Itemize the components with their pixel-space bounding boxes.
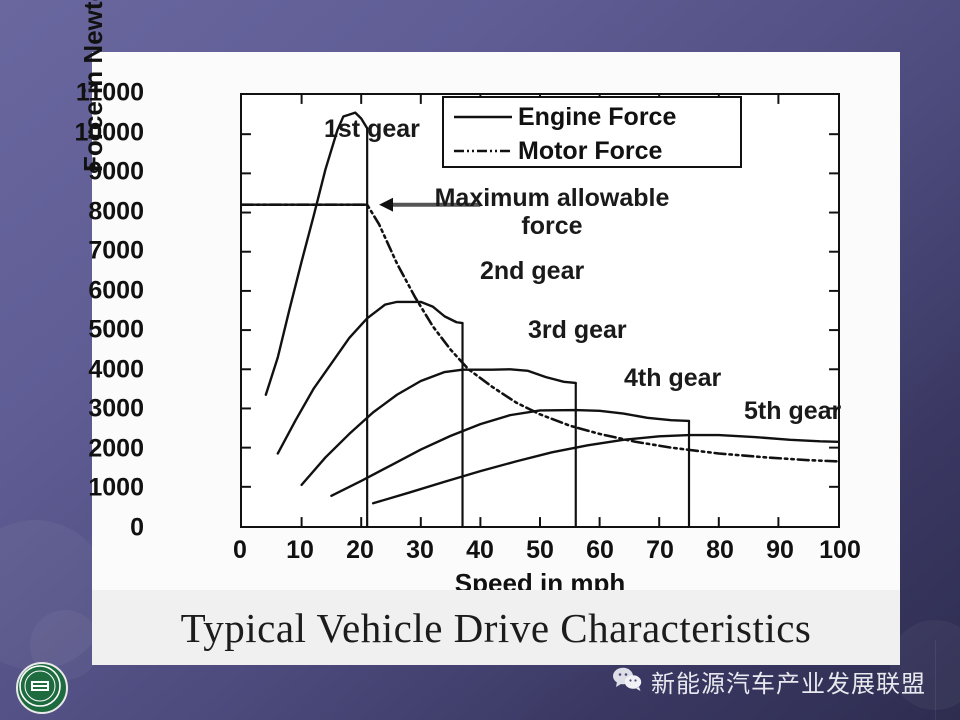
curve-engine-force-5th-gear [373,435,838,503]
legend-swatch-solid [452,110,514,124]
legend-swatch-dashdot [452,144,514,158]
annotation-4th-gear: 4th gear [624,364,721,393]
curve-engine-force-2nd-gear [278,302,463,454]
page-title: Typical Vehicle Drive Characteristics [181,604,812,652]
legend-label-engine-force: Engine Force [518,103,676,132]
y-tick-label: 8000 [24,197,144,226]
chart-legend: Engine Force Motor Force [442,96,742,168]
y-tick-label: 11000 [24,79,144,108]
watermark: 新能源汽车产业发展联盟 [612,664,926,699]
y-tick-label: 1000 [24,474,144,503]
y-tick-label: 3000 [24,395,144,424]
y-tick-label: 5000 [24,316,144,345]
annotation-maximum-allowable-force: Maximum allowableforce [435,184,670,240]
figure-card: Force in Newton 010002000300040005000600… [92,52,900,590]
curve-engine-force-3rd-gear [302,369,576,485]
watermark-text: 新能源汽车产业发展联盟 [651,664,926,699]
x-tick-label: 100 [805,536,875,565]
y-tick-label: 9000 [24,158,144,187]
y-tick-label: 6000 [24,276,144,305]
chart-plot-panel: Force in Newton 010002000300040005000600… [92,52,900,590]
annotation-2nd-gear: 2nd gear [480,257,584,286]
y-tick-label: 2000 [24,434,144,463]
legend-item-motor-force: Motor Force [452,134,732,168]
background-line [935,640,936,720]
curve-engine-force-1st-gear [266,113,367,395]
curve-engine-force-4th-gear [331,410,689,496]
wechat-icon [612,666,642,697]
annotation-5th-gear: 5th gear [744,397,841,426]
y-tick-label: 4000 [24,355,144,384]
title-strip: Typical Vehicle Drive Characteristics [92,590,900,665]
legend-item-engine-force: Engine Force [452,100,732,134]
annotation-3rd-gear: 3rd gear [528,316,627,345]
series-curves [242,113,838,504]
y-tick-label: 7000 [24,237,144,266]
annotation-max-force-line2: force [435,212,670,240]
y-tick-label: 10000 [24,118,144,147]
legend-label-motor-force: Motor Force [518,137,662,166]
y-tick-label: 0 [24,514,144,543]
organization-seal-logo [16,662,68,714]
annotation-max-force-line1: Maximum allowable [435,184,670,212]
annotation-1st-gear: 1st gear [324,115,420,144]
